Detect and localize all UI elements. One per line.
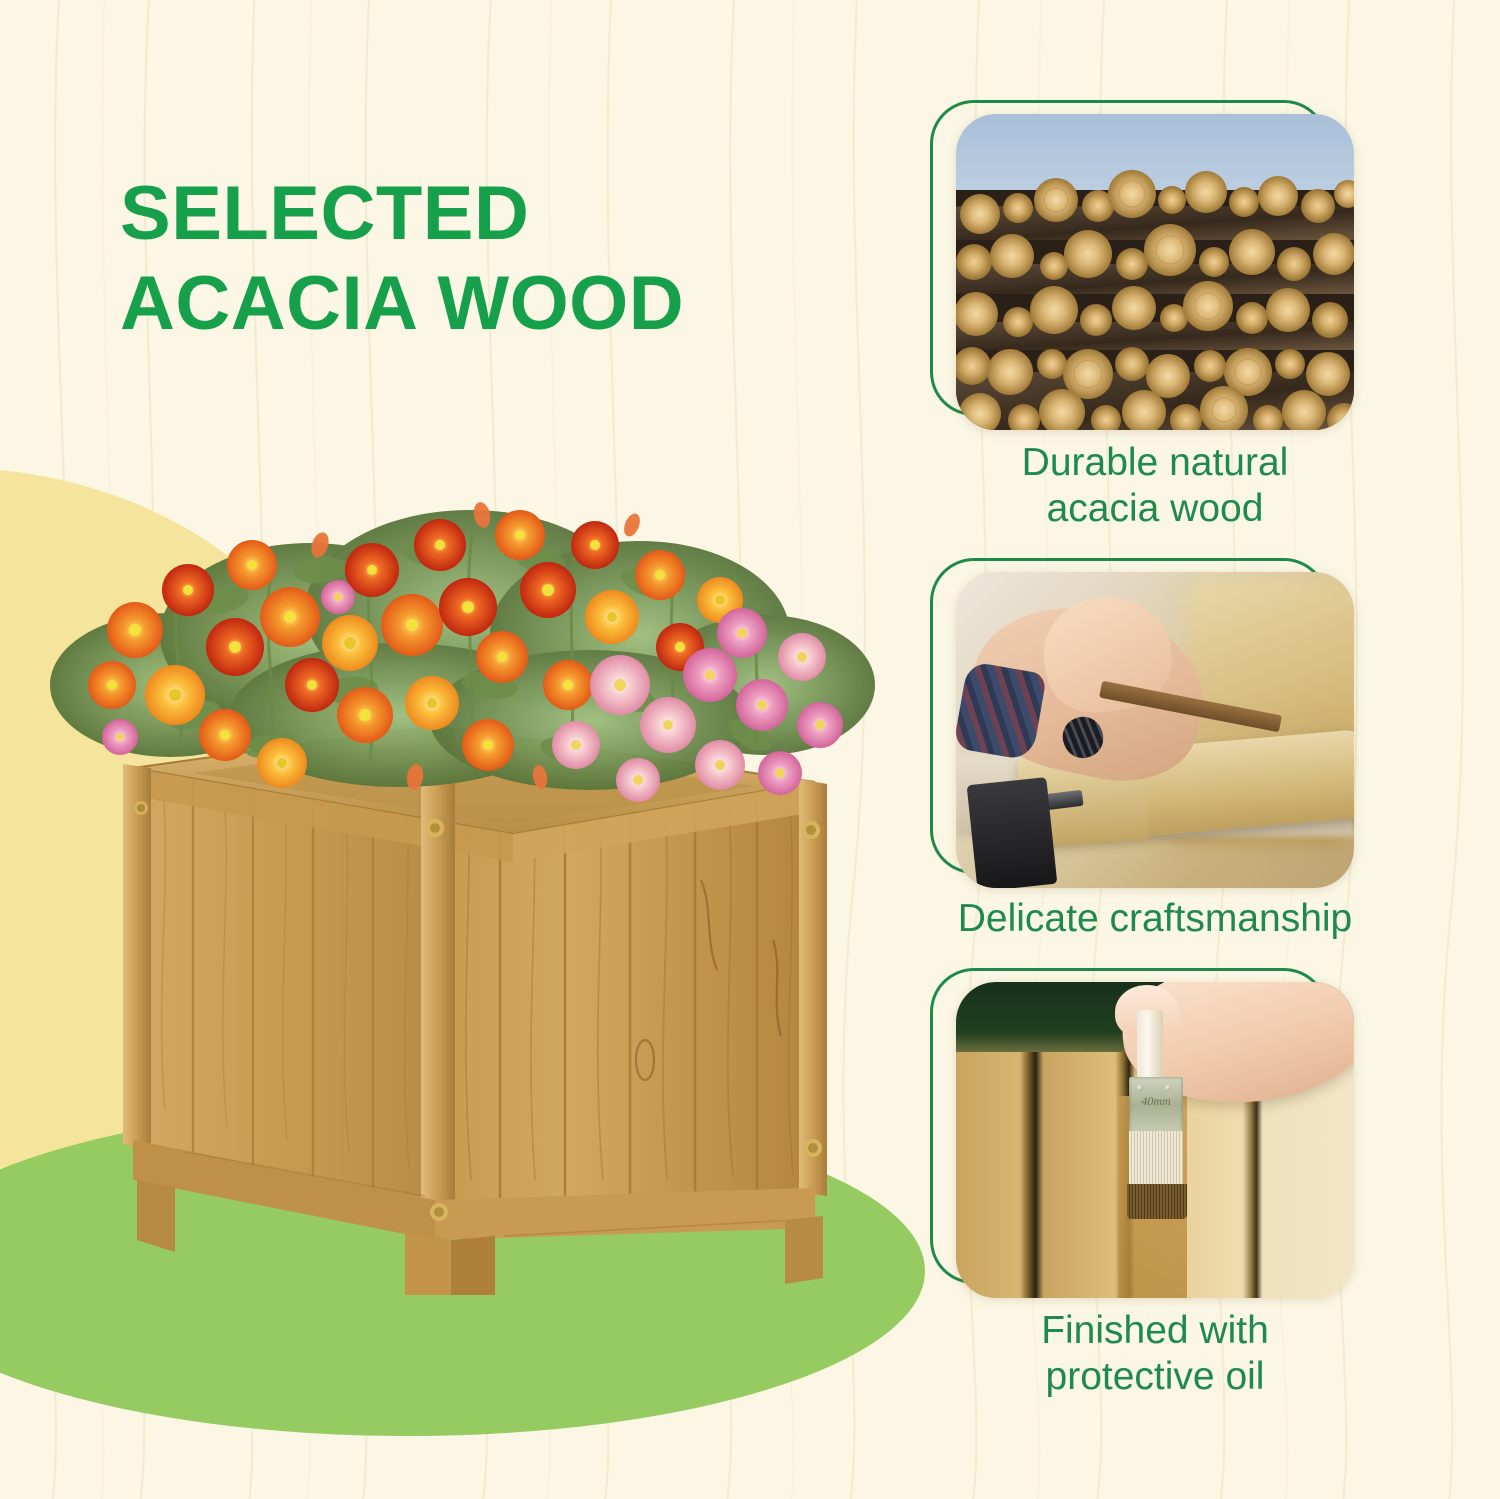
- page-title-line-1: SELECTED: [120, 169, 684, 259]
- feature-card-protective-oil: 40mm Finished with protective oil: [930, 968, 1400, 1368]
- card-caption-1: Durable natural acacia wood: [920, 440, 1390, 532]
- page-title-line-2: ACACIA WOOD: [120, 259, 684, 349]
- brushing-oil-on-decking-photo: 40mm: [956, 982, 1354, 1298]
- craftsman-filing-wood-photo: [956, 572, 1354, 888]
- card-caption-3: Finished with protective oil: [920, 1308, 1390, 1400]
- product-image: [20, 385, 880, 1295]
- feature-card-list: Durable natural acacia wood Delicate cra: [930, 100, 1400, 1368]
- stacked-logs-photo: [956, 114, 1354, 430]
- feature-card-craftsmanship: Delicate craftsmanship: [930, 558, 1400, 958]
- page-title: SELECTED ACACIA WOOD: [120, 169, 684, 350]
- flower-arrangement: [20, 385, 880, 805]
- brush-size-label: 40mm: [1129, 1094, 1183, 1109]
- card-caption-2: Delicate craftsmanship: [920, 896, 1390, 942]
- feature-card-durable-wood: Durable natural acacia wood: [930, 100, 1400, 550]
